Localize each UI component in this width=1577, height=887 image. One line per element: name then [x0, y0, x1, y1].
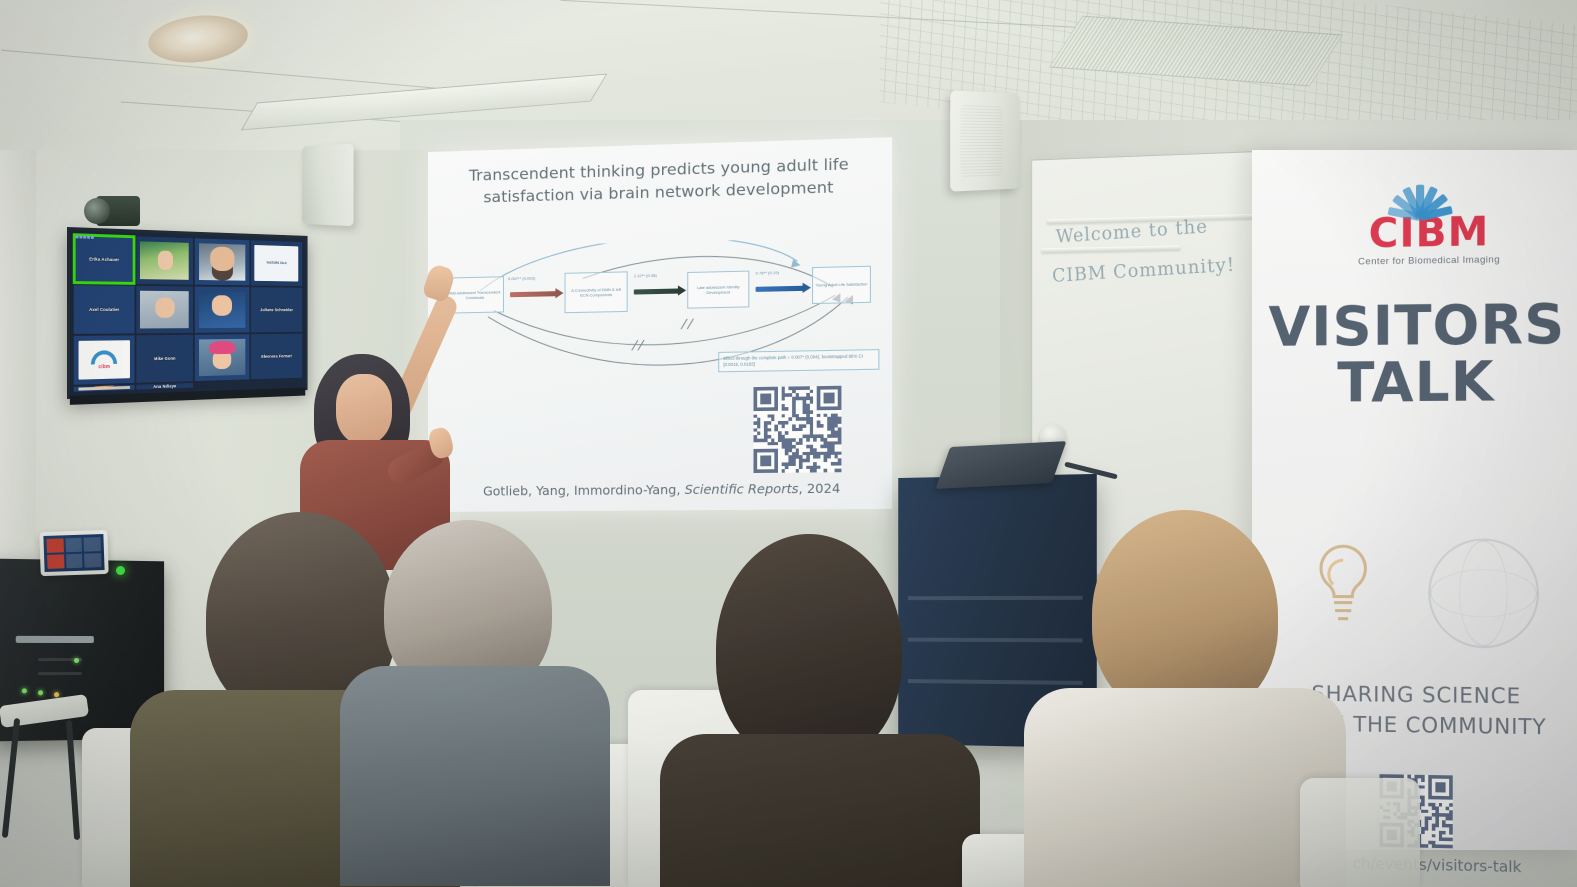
- diagram-arrow-1: [510, 291, 556, 297]
- banner-headline-line-1: VISITORS: [1252, 296, 1577, 356]
- participant-tile[interactable]: [195, 334, 249, 381]
- banner-headline: VISITORS TALK: [1252, 296, 1577, 412]
- participant-tile[interactable]: Axel Coulatier: [74, 285, 134, 334]
- projected-slide: Transcendent thinking predicts young adu…: [428, 137, 892, 512]
- slide-title: Transcendent thinking predicts young adu…: [452, 152, 867, 209]
- participant-video-thumbnail: [199, 244, 246, 281]
- shared-screen-thumbnail: VISITORS TALK: [254, 245, 298, 281]
- participant-video-thumbnail: [140, 242, 189, 280]
- audience-shoulders: [1024, 688, 1346, 887]
- touch-panel-key[interactable]: [46, 538, 63, 553]
- participant-name: Ana Ndiaye: [153, 384, 176, 390]
- diagram-effect-note: Effect through the complete path = 0.007…: [718, 349, 879, 372]
- presenter-face: [336, 374, 392, 444]
- participant-name: Eleonora Fornari: [261, 354, 292, 359]
- diagram-box-4: Young Adult Life Satisfaction: [812, 266, 871, 304]
- banner-headline-line-2: TALK: [1252, 353, 1577, 412]
- cibm-arc-icon: [1379, 178, 1452, 218]
- citation-year: , 2024: [799, 480, 841, 496]
- cibm-logo: CIBM Center for Biomedical Imaging: [1299, 176, 1533, 268]
- shared-screen-text: VISITORS TALK: [266, 261, 286, 265]
- diagram-arrow-2: [634, 288, 679, 294]
- participant-logo-avatar: cibm: [78, 341, 130, 380]
- audience-shoulders: [660, 734, 980, 887]
- room-control-touch-panel[interactable]: [39, 530, 108, 576]
- diagram-path-label-2: 1.12** (0.38): [634, 273, 657, 279]
- slide-qr-code: [745, 386, 850, 473]
- participant-tile[interactable]: [136, 236, 193, 284]
- diagram-arrow-3: [756, 286, 804, 292]
- ceiling-speaker-icon: [302, 144, 353, 227]
- video-conference-camera-icon: [84, 196, 140, 230]
- participant-tile[interactable]: Erika Achauer: [74, 234, 134, 284]
- ceiling-speaker-icon: [950, 90, 1019, 191]
- diagram-box-2: Δ Connectivity of DMN & left ECN Compone…: [565, 271, 628, 313]
- lectern-monitor: [935, 441, 1066, 489]
- lightbulb-icon: [1310, 542, 1377, 637]
- participant-tile[interactable]: [74, 385, 134, 392]
- participant-name: Axel Coulatier: [89, 307, 119, 312]
- touch-panel-key[interactable]: [84, 537, 101, 552]
- touch-panel-key[interactable]: [84, 553, 101, 568]
- active-speaker-indicator-icon: [76, 235, 94, 239]
- participant-tile[interactable]: Mike Gonn: [136, 335, 193, 383]
- participant-tile[interactable]: cibm: [74, 335, 134, 384]
- citation-authors: Gotlieb, Yang, Immordino-Yang,: [483, 482, 685, 499]
- participant-tile[interactable]: [136, 286, 193, 334]
- audience-chair: [1300, 778, 1420, 887]
- participant-tile[interactable]: [195, 238, 249, 285]
- video-conference-monitor[interactable]: Erika AchauerVISITORS TALKAxel Coulatier…: [67, 227, 308, 399]
- diagram-path-label-1: 0.007** (0.003): [508, 276, 535, 282]
- participant-name: Mike Gonn: [154, 356, 176, 361]
- participant-video-thumbnail: [140, 291, 189, 328]
- participant-video-thumbnail: [78, 386, 130, 392]
- cibm-tagline: Center for Biomedical Imaging: [1358, 254, 1500, 267]
- participant-grid: Erika AchauerVISITORS TALKAxel Coulatier…: [74, 234, 302, 392]
- globe-icon: [1428, 538, 1539, 648]
- participant-video-thumbnail: [199, 292, 246, 328]
- touch-panel-screen[interactable]: [43, 534, 104, 572]
- touch-panel-key[interactable]: [47, 554, 64, 569]
- participant-name: Erika Achauer: [89, 257, 119, 263]
- seminar-room-photo: Welcome to the CIBM Community! CIBM Cent…: [0, 0, 1577, 887]
- audience-head: [716, 534, 902, 764]
- status-led: [116, 566, 125, 575]
- slide-citation: Gotlieb, Yang, Immordino-Yang, Scientifi…: [452, 480, 873, 499]
- participant-tile[interactable]: Eleonora Fornari: [251, 334, 303, 380]
- participant-tile[interactable]: Ana Ndiaye: [136, 383, 193, 390]
- diagram-path-label-3: 0.78** (0.19): [756, 270, 779, 276]
- touch-panel-key[interactable]: [66, 554, 83, 569]
- participant-tile[interactable]: VISITORS TALK: [251, 240, 303, 286]
- participant-name: Juliane Schneider: [260, 308, 293, 313]
- participant-tile[interactable]: [195, 287, 249, 333]
- participant-tile[interactable]: Juliane Schneider: [251, 287, 303, 332]
- touch-panel-key[interactable]: [65, 538, 82, 553]
- whiteboard-text-line-2: CIBM Community!: [1052, 254, 1236, 287]
- participant-video-thumbnail: [199, 339, 246, 376]
- audience-shoulders: [340, 666, 610, 886]
- citation-journal: Scientific Reports: [685, 481, 799, 497]
- diagram-box-3: Late adolescent Identity Development: [687, 271, 749, 309]
- empty-chair: [0, 700, 92, 840]
